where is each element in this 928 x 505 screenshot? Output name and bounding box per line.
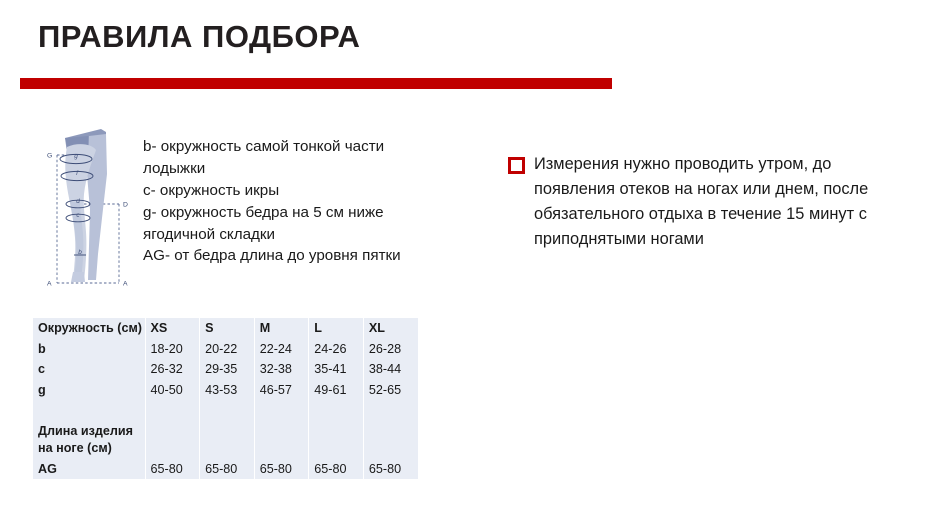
table-cell: 26-28 [363, 339, 418, 360]
table-row: b 18-20 20-22 22-24 24-26 26-28 [33, 339, 418, 360]
table-cell: 35-41 [309, 359, 364, 380]
table-header-cell: Окружность (см) [33, 318, 145, 339]
note-text: Измерения нужно проводить утром, до появ… [534, 152, 908, 252]
row-label: c [33, 359, 145, 380]
table-cell [309, 421, 364, 458]
table-header-cell: M [254, 318, 309, 339]
table-header-cell: L [309, 318, 364, 339]
table-cell: 24-26 [309, 339, 364, 360]
table-cell: 26-32 [145, 359, 200, 380]
table-cell: 65-80 [309, 459, 364, 480]
table-cell [254, 421, 309, 458]
table-cell: 65-80 [145, 459, 200, 480]
svg-text:A: A [47, 281, 52, 288]
size-chart-body: Окружность (см) XS S M L XL b 18-20 20-2… [33, 318, 418, 479]
table-row: g 40-50 43-53 46-57 49-61 52-65 [33, 380, 418, 401]
table-spacer-row [33, 400, 418, 421]
table-cell [145, 421, 200, 458]
svg-text:b: b [78, 249, 82, 256]
legend-line-g: g- окружность бедра на 5 см ниже ягодичн… [143, 202, 443, 246]
table-cell: 49-61 [309, 380, 364, 401]
table-cell [200, 400, 255, 421]
table-cell: 46-57 [254, 380, 309, 401]
leg-illustration [65, 129, 107, 282]
measurement-note: Измерения нужно проводить утром, до появ… [508, 152, 908, 252]
table-cell [33, 400, 145, 421]
table-cell [363, 421, 418, 458]
table-cell [145, 400, 200, 421]
size-chart-table: Окружность (см) XS S M L XL b 18-20 20-2… [33, 318, 418, 479]
legend-line-b: b- окружность самой тонкой части лодыжки [143, 136, 443, 180]
table-cell: 43-53 [200, 380, 255, 401]
table-header-row: Окружность (см) XS S M L XL [33, 318, 418, 339]
table-cell: 18-20 [145, 339, 200, 360]
row-label: b [33, 339, 145, 360]
leg-measurement-diagram: g f d c b G D A A [44, 114, 148, 292]
table-cell: 38-44 [363, 359, 418, 380]
table-cell: 65-80 [254, 459, 309, 480]
table-cell: 65-80 [200, 459, 255, 480]
table-cell [309, 400, 364, 421]
table-cell [200, 421, 255, 458]
page-title: ПРАВИЛА ПОДБОРА [38, 20, 360, 54]
table-cell: 22-24 [254, 339, 309, 360]
square-bullet-icon [508, 157, 525, 174]
svg-text:D: D [123, 202, 128, 209]
measurement-legend: b- окружность самой тонкой части лодыжки… [143, 136, 443, 267]
table-section-row: Длина изделия на ноге (см) [33, 421, 418, 458]
table-header-cell: S [200, 318, 255, 339]
table-header-cell: XL [363, 318, 418, 339]
svg-text:A: A [123, 281, 128, 288]
legend-line-c: c- окружность икры [143, 180, 443, 202]
table-cell: 29-35 [200, 359, 255, 380]
table-row: AG 65-80 65-80 65-80 65-80 65-80 [33, 459, 418, 480]
row-label: g [33, 380, 145, 401]
section-label: Длина изделия на ноге (см) [33, 421, 145, 458]
table-cell: 32-38 [254, 359, 309, 380]
table-row: c 26-32 29-35 32-38 35-41 38-44 [33, 359, 418, 380]
table-cell: 20-22 [200, 339, 255, 360]
table-cell: 65-80 [363, 459, 418, 480]
title-accent-rule [20, 78, 612, 89]
table-cell [363, 400, 418, 421]
legend-line-ag: AG- от бедра длина до уровня пятки [143, 245, 443, 267]
note-bullet-row: Измерения нужно проводить утром, до появ… [508, 152, 908, 252]
svg-text:g: g [74, 153, 78, 160]
svg-text:d: d [76, 198, 80, 205]
svg-text:G: G [47, 153, 52, 160]
table-cell: 40-50 [145, 380, 200, 401]
row-label: AG [33, 459, 145, 480]
table-header-cell: XS [145, 318, 200, 339]
table-cell [254, 400, 309, 421]
table-cell: 52-65 [363, 380, 418, 401]
